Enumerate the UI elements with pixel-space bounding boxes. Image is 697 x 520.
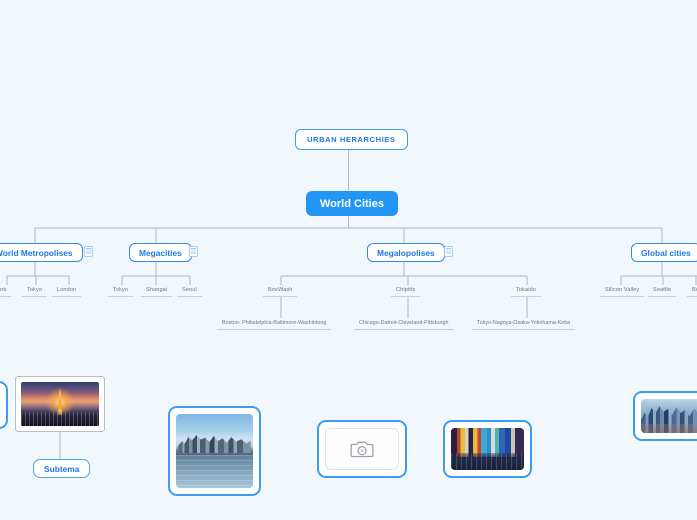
leaf-label: Tokaido <box>516 287 536 293</box>
detail-label: Boston- Philadelphia-Baltimore-Washinton… <box>222 320 326 326</box>
note-icon-megacities[interactable] <box>189 246 198 257</box>
leaf-node-megalopolises-1[interactable]: Chipitts <box>391 285 420 297</box>
leaf-node-megalopolises-2[interactable]: Tokaido <box>511 285 541 297</box>
detail-label: Tokyo-Nagoya-Osaka-Yokohama-Koba <box>477 320 570 326</box>
leaf-node-global-cities-0[interactable]: Silicon Valley <box>600 285 644 297</box>
detail-node-chipitts[interactable]: Chicago-Datroit-Cleveland-Pittsburgh <box>354 318 454 330</box>
leaf-label: Bo <box>692 287 697 293</box>
branch-label: World Metropolises <box>0 248 73 258</box>
image-card-seattle-skyline[interactable] <box>633 391 697 441</box>
branch-label: Global cities <box>641 248 691 258</box>
leaf-label: Seattle <box>653 287 671 293</box>
image-card-placeholder[interactable] <box>317 420 407 478</box>
leaf-node-world-metropolises-0[interactable]: York <box>0 285 11 297</box>
root-node[interactable]: URBAN HERARCHIES <box>295 129 408 150</box>
boston-skyline-photo <box>176 414 253 488</box>
branch-label: Megacities <box>139 248 182 258</box>
leaf-node-global-cities-1[interactable]: Seattle <box>648 285 676 297</box>
branch-label: Megalopolises <box>377 248 435 258</box>
branch-node-megacities[interactable]: Megacities <box>129 243 192 262</box>
leaf-node-global-cities-2[interactable]: Bo <box>687 285 697 297</box>
branch-node-global-cities[interactable]: Global cities <box>631 243 697 262</box>
leaf-node-world-metropolises-1[interactable]: Tokyo <box>22 285 47 297</box>
image-card-boston-skyline[interactable] <box>168 406 261 496</box>
leaf-node-megacities-1[interactable]: Shangai <box>141 285 172 297</box>
image-card-osaka-night[interactable] <box>443 420 532 478</box>
leaf-node-megalopolises-0[interactable]: BosWash <box>263 285 297 297</box>
root-node-label: URBAN HERARCHIES <box>307 135 396 144</box>
mind-map-canvas: URBAN HERARCHIES World Cities World Metr… <box>0 0 697 520</box>
note-icon-megalopolises[interactable] <box>444 246 453 257</box>
leaf-node-megacities-2[interactable]: Seoul <box>177 285 202 297</box>
leaf-label: London <box>57 287 76 293</box>
leaf-label: Seoul <box>182 287 197 293</box>
detail-node-tokaido[interactable]: Tokyo-Nagoya-Osaka-Yokohama-Koba <box>472 318 575 330</box>
tokyo-tower-photo <box>21 382 99 426</box>
osaka-night-photo <box>451 428 524 470</box>
note-icon-world-metropolises[interactable] <box>84 246 93 257</box>
detail-node-boswash[interactable]: Boston- Philadelphia-Baltimore-Washinton… <box>217 318 331 330</box>
branch-node-megalopolises[interactable]: Megalopolises <box>367 243 445 262</box>
main-node-label: World Cities <box>320 198 384 210</box>
branch-node-world-metropolises[interactable]: World Metropolises <box>0 243 83 262</box>
leaf-label: Shangai <box>146 287 167 293</box>
leaf-node-world-metropolises-2[interactable]: London <box>52 285 81 297</box>
leaf-label: Chipitts <box>396 287 415 293</box>
camera-icon <box>350 439 374 459</box>
leaf-label: York <box>0 287 6 293</box>
leaf-label: Tokyo <box>27 287 42 293</box>
subtopic-label: Subtema <box>44 464 79 474</box>
detail-label: Chicago-Datroit-Cleveland-Pittsburgh <box>359 320 449 326</box>
image-card-tokyo-tower[interactable] <box>15 376 105 432</box>
image-card-left-edge[interactable] <box>0 381 8 429</box>
seattle-skyline-photo <box>641 399 697 433</box>
leaf-label: BosWash <box>268 287 292 293</box>
leaf-label: Silicon Valley <box>605 287 639 293</box>
leaf-node-megacities-0[interactable]: Tokyo <box>108 285 133 297</box>
subtopic-node-subtema[interactable]: Subtema <box>33 459 90 478</box>
leaf-label: Tokyo <box>113 287 128 293</box>
main-node-world-cities[interactable]: World Cities <box>306 191 398 216</box>
